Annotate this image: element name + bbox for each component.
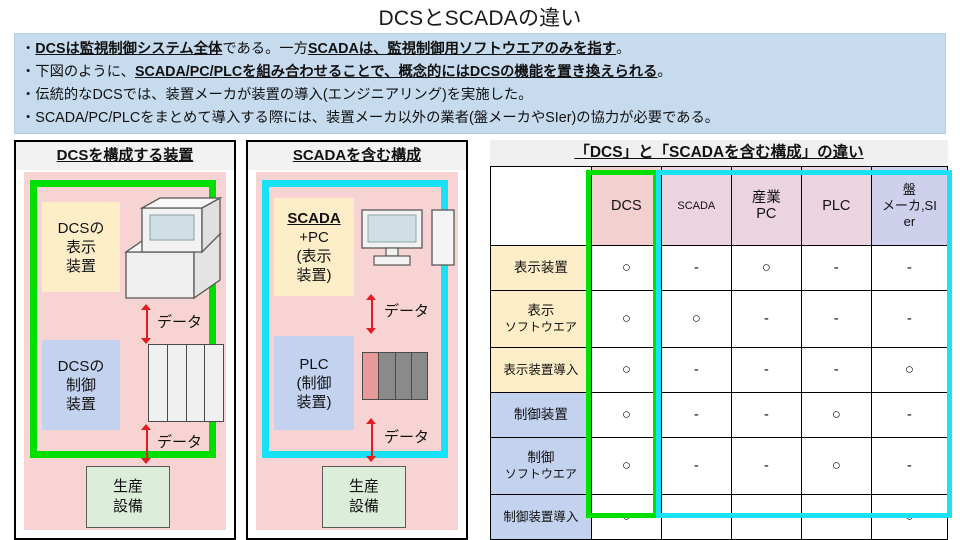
table-row: 制御装置 ○ - - ○ - [491, 393, 948, 438]
panel-scada-body: SCADA +PC (表示 装置) データ [256, 172, 458, 530]
row-label: 表示 ソフトウエア [491, 291, 592, 348]
cell-dcs: ○ [591, 348, 661, 393]
scada-pc-illustration [360, 208, 464, 274]
cell-scada: ○ [661, 291, 731, 348]
scada-equipment-line-1: 生産 [349, 477, 379, 497]
bullet-line-1: ・DCSは監視制御システム全体である。一方SCADAは、監視制御用ソフトウエアの… [21, 38, 939, 61]
scada-production-equipment-box: 生産 設備 [322, 466, 406, 528]
scada-control-line-2: (制御 [297, 374, 332, 393]
cell-sier: - [871, 246, 947, 291]
cell-sier: - [871, 291, 947, 348]
cell-plc: ○ [801, 438, 871, 495]
dcs-control-label-box: DCSの 制御 装置 [42, 340, 120, 430]
cell-ipc: - [731, 438, 801, 495]
header-panel-maker-sier: 盤 メーカ,SI er [871, 167, 947, 246]
dcs-data-arrow-top [141, 304, 152, 344]
dcs-equipment-line-2: 設備 [113, 497, 143, 517]
dcs-display-line-2: 表示 [66, 238, 96, 257]
bullet-text: である。一方 [222, 41, 308, 57]
dcs-data-label-bottom: データ [157, 431, 202, 452]
bullet-text: ・ [21, 41, 35, 57]
dcs-equipment-line-1: 生産 [113, 477, 143, 497]
scada-display-line-3: 装置) [297, 266, 332, 285]
cell-scada: - [661, 393, 731, 438]
scada-equipment-line-2: 設備 [349, 497, 379, 517]
dcs-control-line-2: 制御 [66, 376, 96, 395]
scada-data-arrow-bottom [366, 418, 377, 462]
cell-scada: - [661, 438, 731, 495]
dcs-production-equipment-box: 生産 設備 [86, 466, 170, 528]
bullet-text: 。 [616, 41, 630, 57]
header-panel-line-2: メーカ,SI [872, 198, 947, 214]
dcs-console-illustration [116, 194, 234, 306]
row-label-line: 表示 [491, 303, 591, 319]
cell-dcs: ○ [591, 393, 661, 438]
scada-display-label-box: SCADA +PC (表示 装置) [274, 198, 354, 296]
row-label-line: 表示装置導入 [491, 362, 591, 378]
dcs-display-label-box: DCSの 表示 装置 [42, 202, 120, 292]
row-label-line: 制御装置 [491, 407, 591, 423]
cell-sier: - [871, 393, 947, 438]
cell-ipc: - [731, 291, 801, 348]
table-row: 表示 ソフトウエア ○ ○ - - - [491, 291, 948, 348]
cell-dcs: ○ [591, 291, 661, 348]
row-label-line: 表示装置 [491, 260, 591, 276]
header-industrial-pc: 産業 PC [731, 167, 801, 246]
scada-plc-rack [362, 352, 428, 400]
header-panel-line-1: 盤 [872, 182, 947, 198]
dcs-controller-rack [148, 344, 224, 422]
panel-dcs-title: DCSを構成する装置 [16, 142, 234, 170]
cell-ipc: - [731, 348, 801, 393]
panel-dcs-body: DCSの 表示 装置 [24, 172, 226, 530]
cell-plc: - [801, 495, 871, 540]
bullet-emphasis: SCADAは、監視制御用ソフトウエアのみを指す [308, 41, 616, 57]
panel-dcs-devices: DCSを構成する装置 DCSの 表示 装置 [14, 140, 236, 540]
header-scada: SCADA [661, 167, 731, 246]
row-label-line: 制御 [491, 450, 591, 466]
comparison-table-title: 「DCS」と「SCADAを含む構成」の違い [490, 140, 948, 166]
cell-scada: - [661, 246, 731, 291]
header-dcs: DCS [591, 167, 661, 246]
bullet-text: 。 [657, 64, 671, 80]
dcs-display-line-1: DCSの [58, 219, 105, 238]
row-label: 制御装置 [491, 393, 592, 438]
panel-scada-config: SCADAを含む構成 SCADA +PC (表示 装置) [246, 140, 468, 540]
scada-control-label-box: PLC (制御 装置) [274, 336, 354, 430]
scada-data-label-top: データ [384, 300, 429, 321]
header-panel-line-3: er [872, 214, 947, 230]
table-row: 表示装置 ○ - ○ - - [491, 246, 948, 291]
cell-ipc: - [731, 495, 801, 540]
dcs-display-line-3: 装置 [66, 257, 96, 276]
scada-data-arrow-top [366, 294, 377, 334]
bullet-line-3: ・伝統的なDCSでは、装置メーカが装置の導入(エンジニアリング)を実施した。 [21, 84, 939, 107]
cell-sier: ○ [871, 348, 947, 393]
cell-plc: - [801, 246, 871, 291]
header-industrial-pc-line-1: 産業 [732, 190, 801, 206]
dcs-control-line-3: 装置 [66, 395, 96, 414]
row-label-line: ソフトウエア [491, 319, 591, 335]
table-row: 制御装置導入 ○ - - - ○ [491, 495, 948, 540]
dcs-data-arrow-bottom [141, 424, 152, 464]
bullet-text: ・伝統的なDCSでは、装置メーカが装置の導入(エンジニアリング)を実施した。 [21, 87, 533, 103]
cell-ipc: ○ [731, 246, 801, 291]
cell-plc: - [801, 348, 871, 393]
scada-control-line-1: PLC [299, 355, 328, 374]
row-label: 制御装置導入 [491, 495, 592, 540]
cell-dcs: ○ [591, 246, 661, 291]
page-title: DCSとSCADAの違い [0, 2, 960, 32]
row-label: 表示装置 [491, 246, 592, 291]
cell-plc: ○ [801, 393, 871, 438]
bullet-emphasis: DCSは監視制御システム全体 [35, 41, 222, 57]
cell-dcs: ○ [591, 438, 661, 495]
header-blank [491, 167, 592, 246]
scada-display-line-2: (表示 [297, 247, 332, 266]
panel-comparison-table: 「DCS」と「SCADAを含む構成」の違い DCS SCADA 産業 PC PL… [480, 140, 958, 540]
row-label: 表示装置導入 [491, 348, 592, 393]
header-plc: PLC [801, 167, 871, 246]
dcs-data-label-top: データ [157, 311, 202, 332]
cell-plc: - [801, 291, 871, 348]
cell-dcs: ○ [591, 495, 661, 540]
bullet-text: ・下図のように、 [21, 64, 135, 80]
cell-ipc: - [731, 393, 801, 438]
header-industrial-pc-line-2: PC [732, 206, 801, 222]
dcs-control-line-1: DCSの [58, 357, 105, 376]
row-label-line: 制御装置導入 [491, 509, 591, 525]
scada-display-head: SCADA [287, 209, 340, 228]
bullet-emphasis: SCADA/PC/PLCを組み合わせることで、概念的にはDCSの機能を置き換えら… [135, 64, 657, 80]
bullet-line-2: ・下図のように、SCADA/PC/PLCを組み合わせることで、概念的にはDCSの… [21, 61, 939, 84]
bullet-text: ・SCADA/PC/PLCをまとめて導入する際には、装置メーカ以外の業者(盤メー… [21, 110, 719, 126]
panel-scada-title: SCADAを含む構成 [248, 142, 466, 170]
scada-control-line-3: 装置) [297, 393, 332, 412]
table-header-row: DCS SCADA 産業 PC PLC 盤 メーカ,SI er [491, 167, 948, 246]
row-label: 制御 ソフトウエア [491, 438, 592, 495]
table-row: 制御 ソフトウエア ○ - - ○ - [491, 438, 948, 495]
bullet-line-4: ・SCADA/PC/PLCをまとめて導入する際には、装置メーカ以外の業者(盤メー… [21, 107, 939, 130]
row-label-line: ソフトウエア [491, 466, 591, 482]
table-row: 表示装置導入 ○ - - - ○ [491, 348, 948, 393]
cell-scada: - [661, 348, 731, 393]
slide-root: DCSとSCADAの違い ・DCSは監視制御システム全体である。一方SCADAは… [0, 0, 960, 540]
cell-sier: - [871, 438, 947, 495]
scada-display-line-1: +PC [299, 228, 329, 247]
scada-data-label-bottom: データ [384, 426, 429, 447]
comparison-table: DCS SCADA 産業 PC PLC 盤 メーカ,SI er 表示 [490, 166, 948, 540]
cell-sier: ○ [871, 495, 947, 540]
summary-bullets: ・DCSは監視制御システム全体である。一方SCADAは、監視制御用ソフトウエアの… [14, 33, 946, 134]
cell-scada: - [661, 495, 731, 540]
